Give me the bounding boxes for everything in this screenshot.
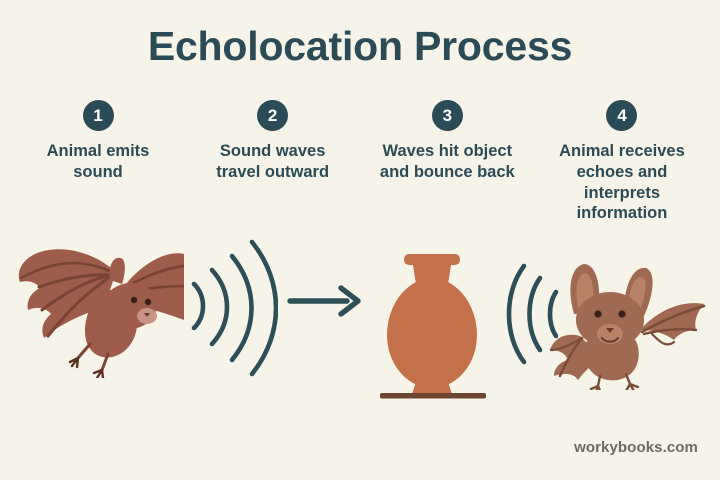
step-label-3: Waves hit object and bounce back — [380, 141, 515, 183]
step-label-4: Animal receives echoes and interprets in… — [559, 141, 685, 224]
step-item-2: 2 Sound waves travel outward — [189, 100, 357, 183]
step-number-badge-3: 3 — [432, 100, 463, 131]
vase-icon — [374, 244, 494, 411]
step-label-2: Sound waves travel outward — [216, 141, 329, 183]
sound-waves-outgoing-icon — [186, 230, 278, 385]
arrow-right-icon — [287, 284, 365, 323]
step-label-1: Animal emits sound — [47, 141, 150, 183]
step-number-badge-2: 2 — [257, 100, 288, 131]
step-item-4: 4 Animal receives echoes and interprets … — [538, 100, 706, 224]
steps-row: 1 Animal emits sound 2 Sound waves trave… — [14, 100, 706, 224]
step-number-badge-1: 1 — [83, 100, 114, 131]
step-number-badge-4: 4 — [606, 100, 637, 131]
step-item-1: 1 Animal emits sound — [14, 100, 182, 183]
bat-listening-icon — [548, 260, 708, 395]
footer-watermark: workybooks.com — [574, 439, 698, 456]
infographic-canvas: Echolocation Process 1 Animal emits soun… — [0, 0, 720, 480]
illustration-band — [0, 222, 720, 402]
step-item-3: 3 Waves hit object and bounce back — [363, 100, 531, 183]
page-title: Echolocation Process — [0, 26, 720, 67]
bat-flying-icon — [8, 228, 184, 383]
